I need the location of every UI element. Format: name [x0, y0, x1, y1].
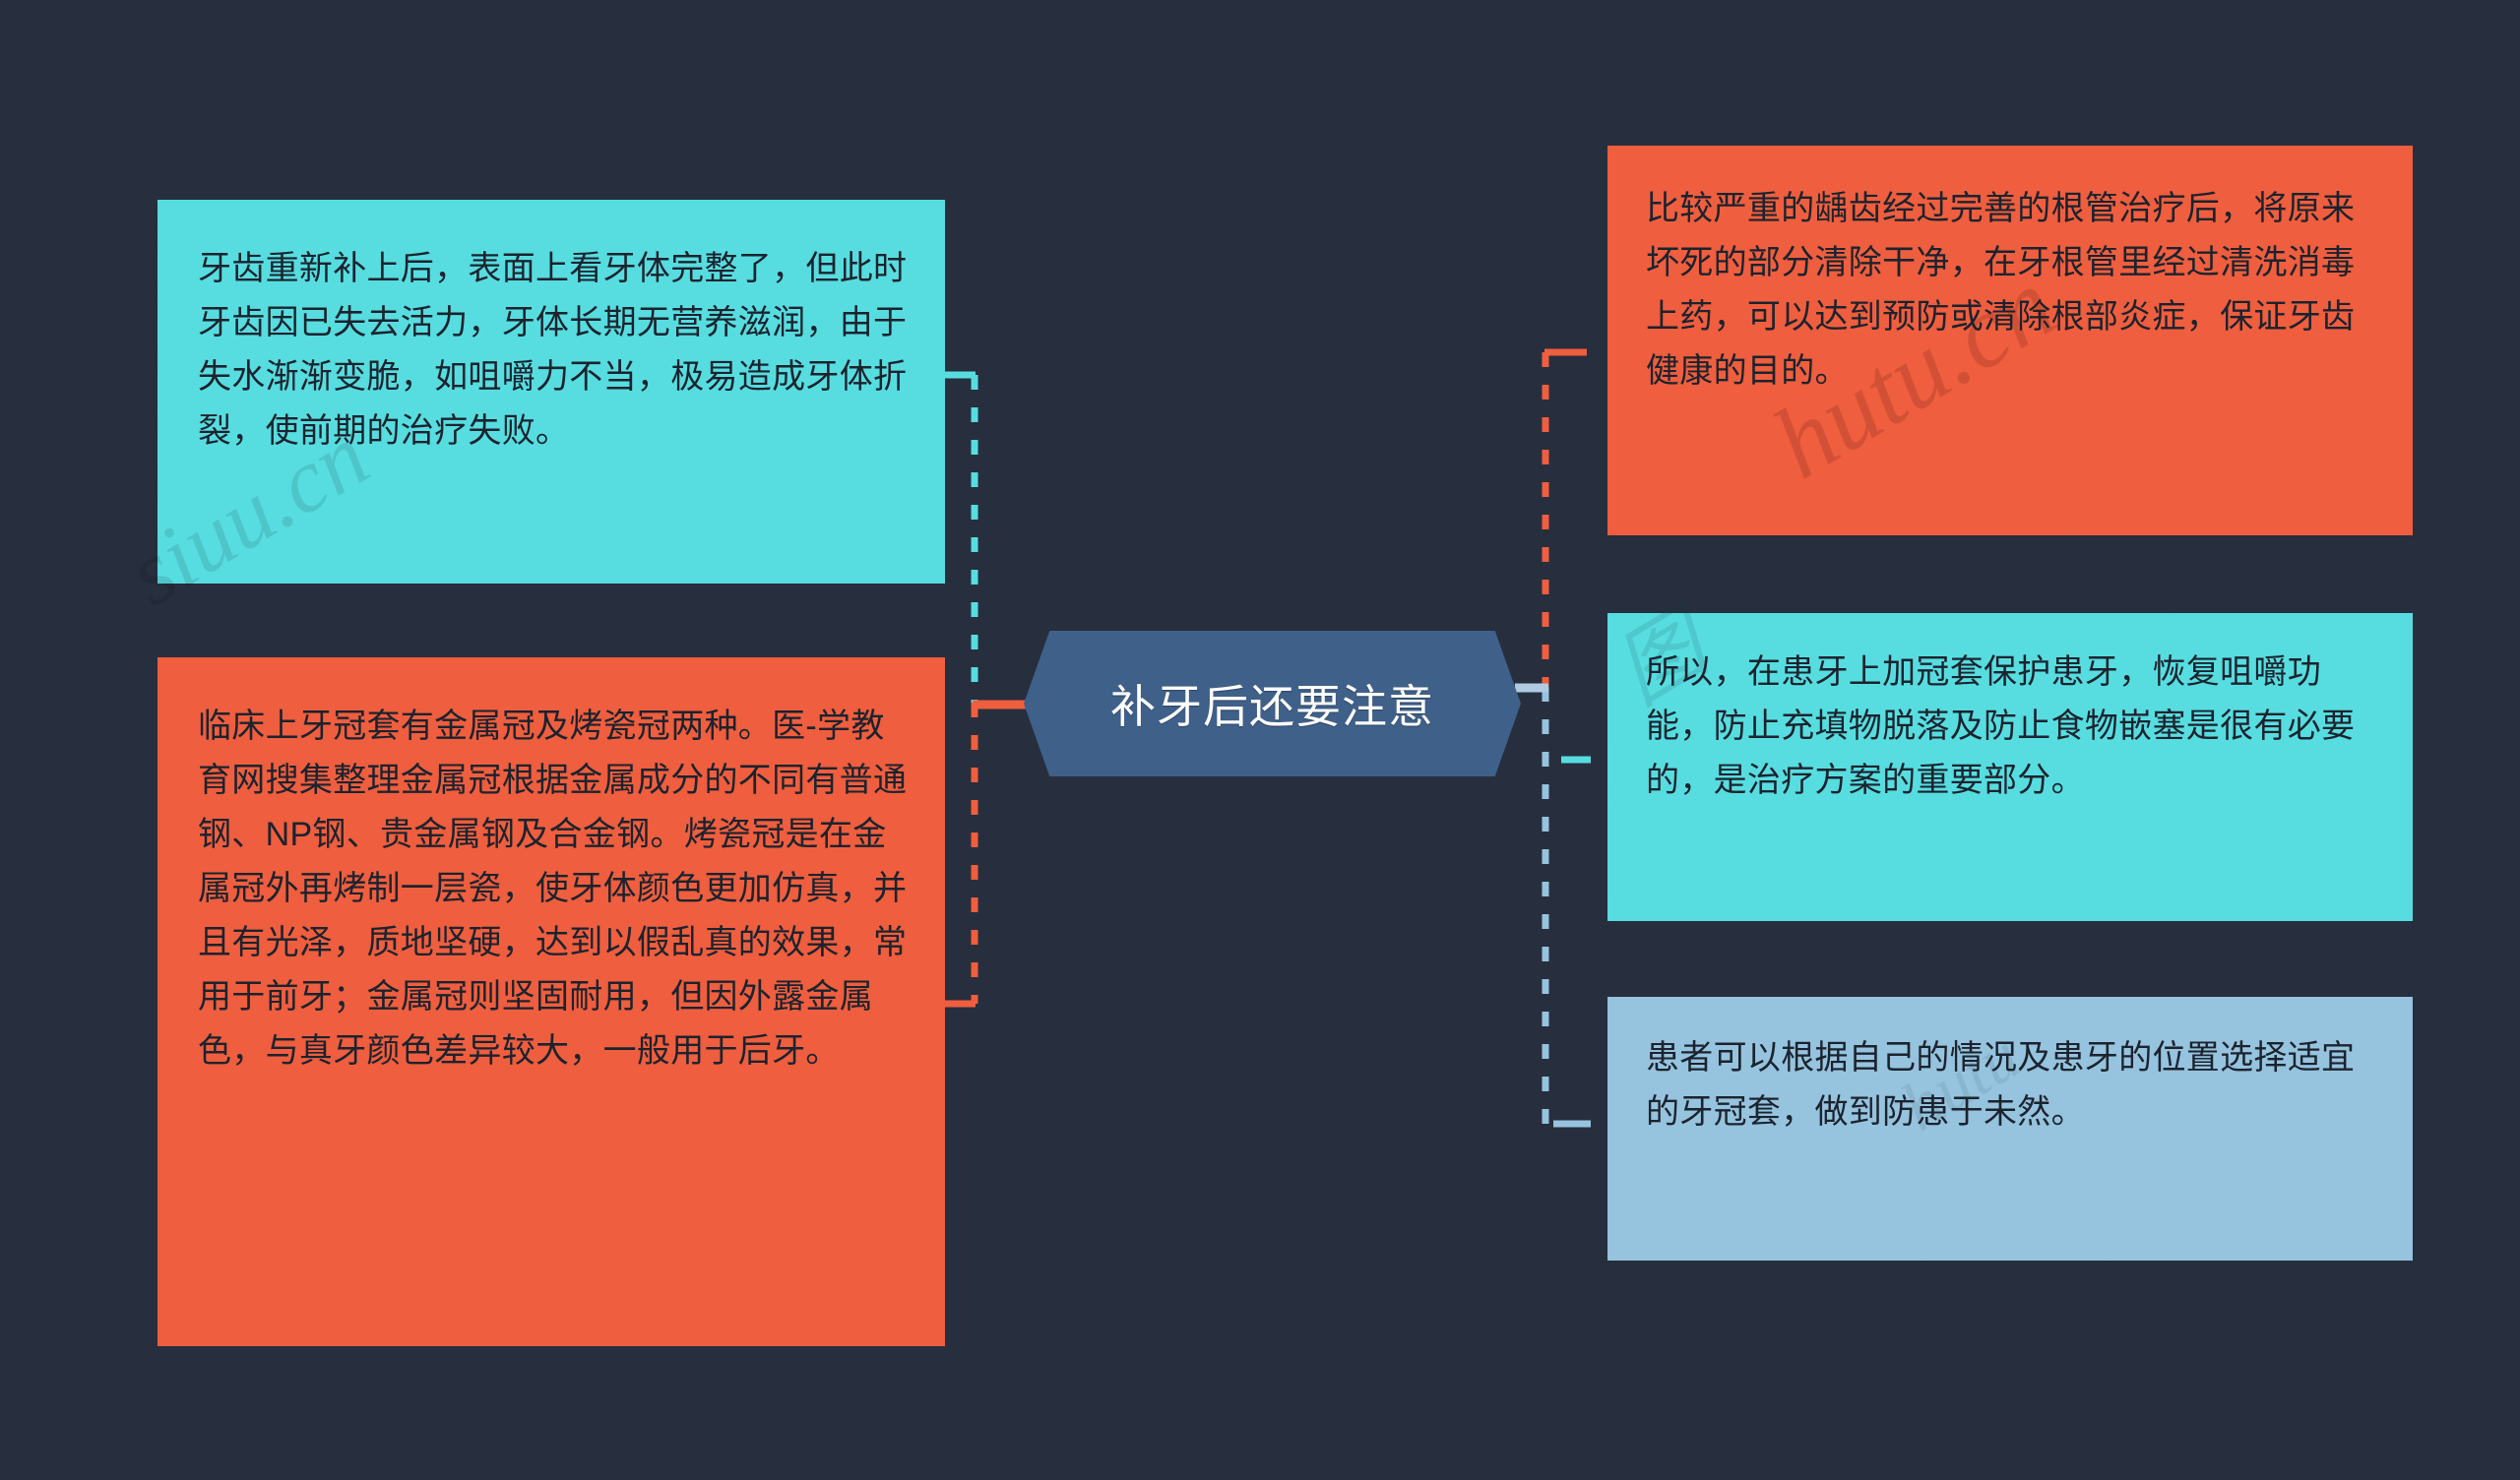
central-topic-label: 补牙后还要注意 [1024, 631, 1521, 776]
mindmap-canvas: siuu.cn hutu.cn 图 hutu 牙齿重新补上后，表面上看牙体完整了… [0, 0, 2520, 1480]
branch-box-right-3[interactable]: 患者可以根据自己的情况及患牙的位置选择适宜的牙冠套，做到防患于未然。 [1607, 997, 2413, 1261]
central-topic-node[interactable]: 补牙后还要注意 [1024, 631, 1521, 776]
branch-text-left-1: 牙齿重新补上后，表面上看牙体完整了，但此时牙齿因已失去活力，牙体长期无营养滋润，… [198, 242, 911, 459]
branch-text-right-3: 患者可以根据自己的情况及患牙的位置选择适宜的牙冠套，做到防患于未然。 [1646, 1031, 2380, 1140]
branch-text-left-2: 临床上牙冠套有金属冠及烤瓷冠两种。医-学教育网搜集整理金属冠根据金属成分的不同有… [198, 700, 911, 1079]
branch-box-right-2[interactable]: 所以，在患牙上加冠套保护患牙，恢复咀嚼功能，防止充填物脱落及防止食物嵌塞是很有必… [1607, 613, 2413, 921]
branch-text-right-2: 所以，在患牙上加冠套保护患牙，恢复咀嚼功能，防止充填物脱落及防止食物嵌塞是很有必… [1646, 646, 2380, 808]
branch-box-right-1[interactable]: 比较严重的龋齿经过完善的根管治疗后，将原来坏死的部分清除干净，在牙根管里经过清洗… [1607, 146, 2413, 535]
branch-box-left-1[interactable]: 牙齿重新补上后，表面上看牙体完整了，但此时牙齿因已失去活力，牙体长期无营养滋润，… [157, 200, 945, 584]
branch-text-right-1: 比较严重的龋齿经过完善的根管治疗后，将原来坏死的部分清除干净，在牙根管里经过清洗… [1646, 182, 2380, 399]
branch-box-left-2[interactable]: 临床上牙冠套有金属冠及烤瓷冠两种。医-学教育网搜集整理金属冠根据金属成分的不同有… [157, 657, 945, 1346]
